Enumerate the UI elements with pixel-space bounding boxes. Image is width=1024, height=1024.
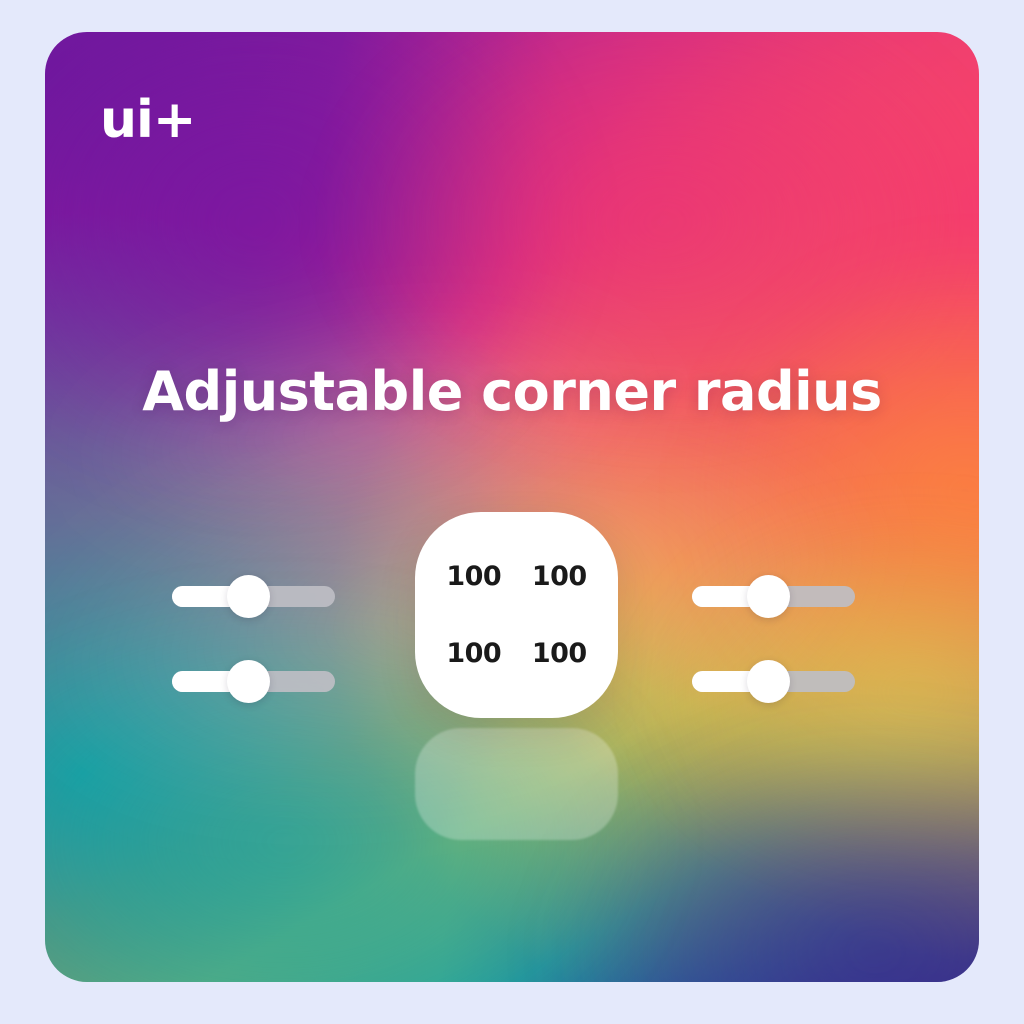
- gradient-wave-orange: [605, 172, 979, 812]
- page-root: ui+ Adjustable corner radius 100 100 100…: [0, 0, 1024, 1024]
- slider-thumb[interactable]: [747, 575, 790, 618]
- slider-bottom-right-radius[interactable]: [692, 671, 855, 692]
- radius-value-top-right: 100: [532, 563, 587, 590]
- radius-card-reflection: [415, 728, 618, 840]
- radius-value-bottom-right: 100: [532, 640, 587, 667]
- slider-bottom-left-radius[interactable]: [172, 671, 335, 692]
- slider-thumb[interactable]: [227, 660, 270, 703]
- brand-logo: ui+: [100, 94, 195, 146]
- slider-top-right-radius[interactable]: [692, 586, 855, 607]
- slider-thumb[interactable]: [227, 575, 270, 618]
- radius-preview-card: 100 100 100 100: [415, 512, 618, 718]
- slider-thumb[interactable]: [747, 660, 790, 703]
- slider-top-left-radius[interactable]: [172, 586, 335, 607]
- radius-value-bottom-left: 100: [446, 640, 501, 667]
- radius-value-top-left: 100: [446, 563, 501, 590]
- page-title: Adjustable corner radius: [45, 365, 979, 419]
- gradient-canvas: ui+ Adjustable corner radius 100 100 100…: [45, 32, 979, 982]
- gradient-wave-magenta: [215, 32, 979, 532]
